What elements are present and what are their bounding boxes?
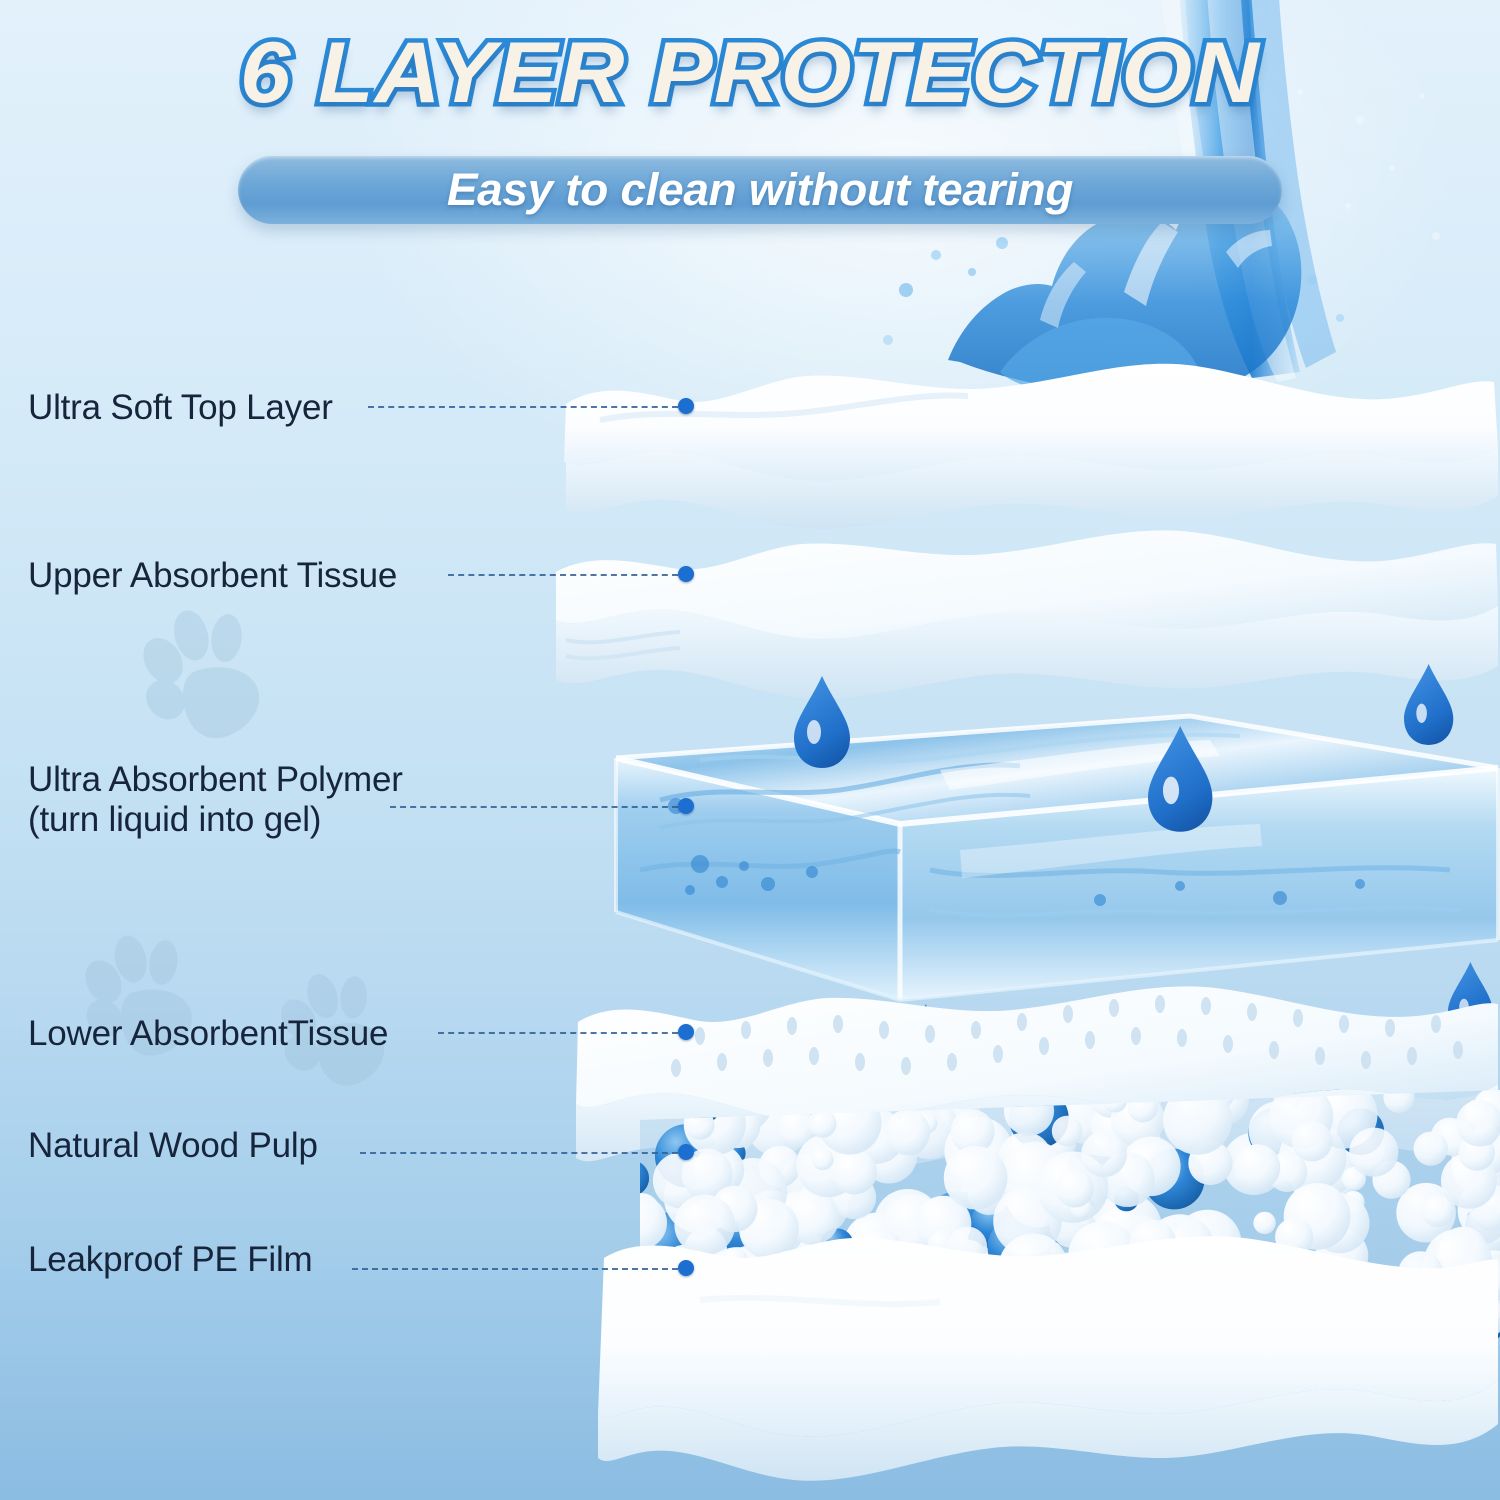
- leader-line-wood-pulp: [360, 1152, 678, 1154]
- page-title-text: 6 LAYER PROTECTION: [240, 30, 1260, 116]
- gel-bead-icon: [613, 1160, 649, 1196]
- layer-label-wood-pulp: Natural Wood Pulp: [28, 1126, 318, 1166]
- pulp-bead-icon: [885, 1110, 931, 1156]
- leader-line-pe-film: [352, 1268, 678, 1270]
- pad-layer-polymer: [616, 716, 1498, 1000]
- leader-line-upper-tissue: [448, 574, 678, 576]
- pulp-bead-icon: [1052, 1116, 1083, 1147]
- leader-line-lower-tissue: [438, 1032, 678, 1034]
- layer-label-pe-film: Leakproof PE Film: [28, 1240, 313, 1280]
- pulp-bead-icon: [613, 1196, 667, 1250]
- pad-layer-pe-film: [598, 1236, 1498, 1481]
- leader-dot-lower-tissue: [678, 1024, 694, 1040]
- pad-layer-upper-tissue: [556, 530, 1498, 699]
- subtitle-pill: Easy to clean without tearing: [238, 156, 1282, 224]
- leader-line-top-layer: [368, 406, 678, 408]
- leader-dot-polymer: [678, 798, 694, 814]
- leader-dot-wood-pulp: [678, 1144, 694, 1160]
- pulp-bead-icon: [1292, 1121, 1333, 1162]
- pulp-bead-icon: [1081, 1131, 1127, 1177]
- pulp-bead-icon: [613, 1196, 645, 1228]
- leader-line-polymer: [390, 806, 678, 808]
- subtitle-text: Easy to clean without tearing: [447, 164, 1073, 216]
- pulp-bead-icon: [832, 1149, 877, 1194]
- pulp-bead-icon: [1056, 1170, 1094, 1208]
- pulp-bead-icon: [1349, 1128, 1398, 1177]
- page-title: 6 LAYER PROTECTION: [0, 30, 1500, 116]
- layer-label-top-layer: Ultra Soft Top Layer: [28, 388, 333, 428]
- layer-label-polymer: Ultra Absorbent Polymer (turn liquid int…: [28, 760, 403, 841]
- infographic-canvas: 6 LAYER PROTECTION Easy to clean without…: [0, 0, 1500, 1500]
- leader-dot-upper-tissue: [678, 566, 694, 582]
- pulp-bead-icon: [812, 1148, 834, 1170]
- layer-label-lower-tissue: Lower AbsorbentTissue: [28, 1014, 388, 1054]
- layer-label-upper-tissue: Upper Absorbent Tissue: [28, 556, 397, 596]
- pulp-bead-icon: [674, 1195, 735, 1256]
- pulp-bead-icon: [944, 1146, 1008, 1210]
- pad-layer-top: [564, 364, 1498, 529]
- pulp-bead-icon: [1253, 1212, 1275, 1234]
- pulp-bead-icon: [1234, 1144, 1280, 1190]
- leader-dot-pe-film: [678, 1260, 694, 1276]
- pulp-bead-icon: [1414, 1132, 1448, 1166]
- leader-dot-top-layer: [678, 398, 694, 414]
